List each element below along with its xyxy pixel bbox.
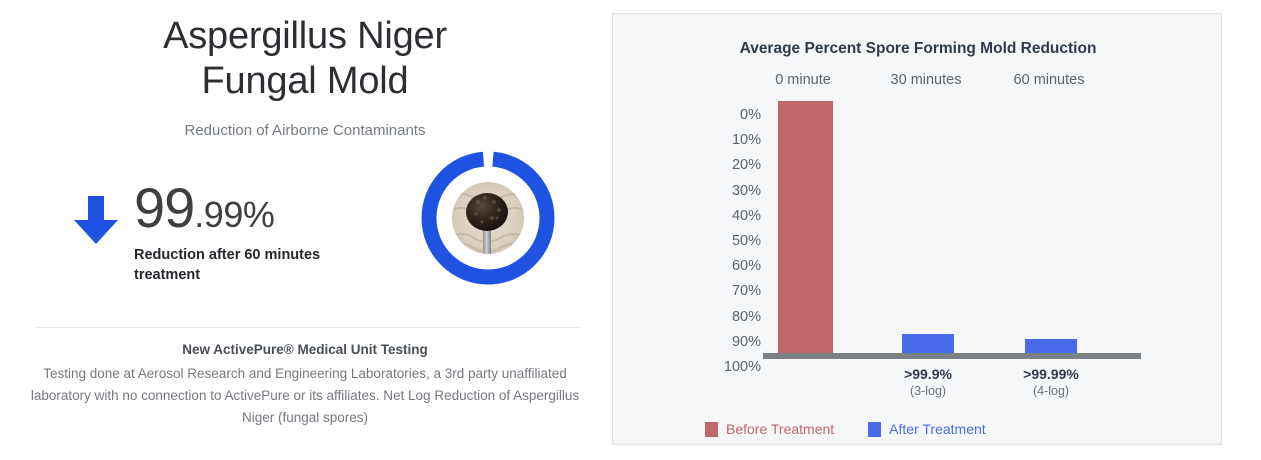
chart-legend-swatch bbox=[868, 422, 881, 437]
chart-legend-label: After Treatment bbox=[889, 421, 985, 437]
spore-micrograph-image bbox=[452, 182, 524, 254]
chart-data-label: >99.99%(4-log) bbox=[991, 366, 1111, 398]
reduction-percentage-minor: .99% bbox=[194, 194, 274, 235]
chart-bar bbox=[778, 101, 833, 353]
footnote-body: Testing done at Aerosol Research and Eng… bbox=[20, 363, 590, 429]
footnote-divider bbox=[35, 327, 580, 328]
chart-data-label-value: >99.9% bbox=[868, 366, 988, 382]
page-subtitle: Reduction of Airborne Contaminants bbox=[0, 122, 610, 139]
chart-data-label-sub: (4-log) bbox=[991, 384, 1111, 398]
footnote-title: New ActivePure® Medical Unit Testing bbox=[20, 342, 590, 357]
chart-plot-area: 0%10%20%30%40%50%60%70%80%90%100% >99.9%… bbox=[613, 14, 1223, 446]
chart-y-tick-label: 0% bbox=[740, 108, 761, 123]
chart-bars bbox=[763, 101, 1143, 353]
chart-legend: Before TreatmentAfter Treatment bbox=[705, 418, 986, 440]
chart-y-axis: 0%10%20%30%40%50%60%70%80%90%100% bbox=[701, 102, 761, 366]
chart-data-label-sub: (3-log) bbox=[868, 384, 988, 398]
page-title-line-1: Aspergillus Niger bbox=[0, 14, 610, 59]
chart-y-tick-label: 30% bbox=[732, 184, 761, 199]
page-title-line-2: Fungal Mold bbox=[0, 59, 610, 104]
reduction-stat-caption: Reduction after 60 minutes treatment bbox=[134, 245, 349, 285]
chart-y-tick-label: 70% bbox=[732, 284, 761, 299]
chart-data-label-value: >99.99% bbox=[991, 366, 1111, 382]
summary-panel: Aspergillus Niger Fungal Mold Reduction … bbox=[0, 0, 610, 460]
chart-y-tick-label: 20% bbox=[732, 158, 761, 173]
reduction-donut-graphic bbox=[418, 148, 558, 288]
chart-y-tick-label: 90% bbox=[732, 335, 761, 350]
chart-bar bbox=[902, 334, 954, 353]
chart-y-tick-label: 40% bbox=[732, 209, 761, 224]
chart-y-tick-label: 80% bbox=[732, 310, 761, 325]
chart-legend-item[interactable]: After Treatment bbox=[868, 421, 985, 437]
chart-data-label: >99.9%(3-log) bbox=[868, 366, 988, 398]
chart-bar bbox=[1025, 339, 1077, 353]
arrow-down-icon bbox=[72, 194, 120, 246]
chart-y-tick-label: 60% bbox=[732, 259, 761, 274]
chart-panel: Average Percent Spore Forming Mold Reduc… bbox=[612, 13, 1222, 445]
reduction-stat-block: 99.99% Reduction after 60 minutes treatm… bbox=[62, 180, 412, 290]
chart-data-labels: >99.9%(3-log)>99.99%(4-log) bbox=[763, 366, 1143, 406]
chart-y-tick-label: 10% bbox=[732, 133, 761, 148]
reduction-percentage: 99.99% bbox=[134, 180, 349, 236]
reduction-stat-text: 99.99% Reduction after 60 minutes treatm… bbox=[134, 180, 349, 285]
page-title: Aspergillus Niger Fungal Mold bbox=[0, 14, 610, 104]
reduction-percentage-major: 99 bbox=[134, 176, 194, 239]
chart-y-tick-label: 50% bbox=[732, 234, 761, 249]
chart-legend-swatch bbox=[705, 422, 718, 437]
chart-legend-item[interactable]: Before Treatment bbox=[705, 421, 834, 437]
chart-axis-baseline bbox=[763, 353, 1141, 359]
chart-y-tick-label: 100% bbox=[724, 360, 761, 375]
footnote: New ActivePure® Medical Unit Testing Tes… bbox=[20, 342, 590, 429]
chart-legend-label: Before Treatment bbox=[726, 421, 834, 437]
